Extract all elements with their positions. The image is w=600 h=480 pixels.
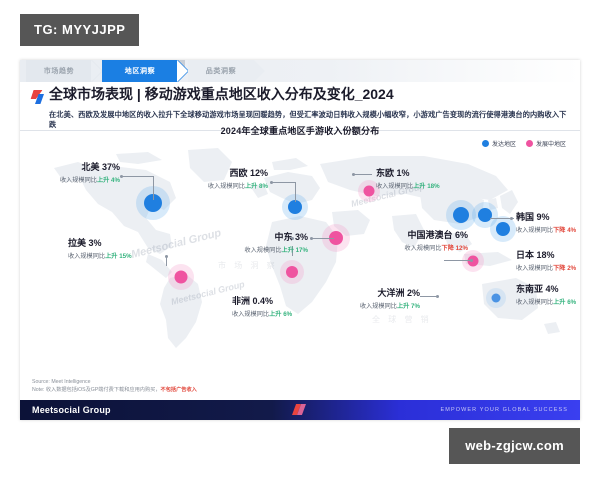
telegram-watermark-tag: TG: MYYJJPP (20, 14, 139, 46)
footnote-note-highlight: 不包括广告收入 (161, 387, 197, 393)
leader-dot (165, 255, 168, 258)
callout-change-prefix: 收入规模同比 (68, 253, 105, 260)
callout-change-value: 上升 15% (105, 253, 131, 260)
callout-southeast-asia: 东南亚 4% 收入规模同比上升 6% (516, 282, 576, 306)
callout-north-america: 北美 37% 收入规模同比上升 4% (26, 160, 120, 184)
callout-latin-america: 拉美 3% 收入规模同比上升 15% (68, 236, 132, 260)
callout-change-value: 下降 12% (442, 245, 468, 252)
callout-title: 西欧 12% (170, 166, 268, 179)
tab-label: 市场趋势 (44, 66, 74, 76)
callout-change: 收入规模同比下降 2% (516, 263, 576, 272)
callout-change-prefix: 收入规模同比 (516, 265, 553, 272)
callout-title: 东南亚 4% (516, 282, 576, 295)
leader-dot (510, 217, 513, 220)
page-title: 全球市场表现 | 移动游戏重点地区收入分布及变化_2024 (49, 86, 394, 102)
brand-diamond-icon (30, 89, 46, 105)
callout-change: 收入规模同比上升 7% (338, 301, 420, 310)
callout-change-prefix: 收入规模同比 (60, 177, 97, 184)
map-watermark-cjk: 市 场 洞 察 (218, 260, 278, 271)
bubble-southeast-asia[interactable] (462, 250, 484, 272)
leader-dot (352, 173, 355, 176)
callout-title: 北美 37% (26, 160, 120, 173)
leader-dot (436, 295, 439, 298)
chevron-right-icon (254, 60, 265, 82)
callout-change-prefix: 收入规模同比 (360, 303, 397, 310)
footnote-note: Note: 收入数据包括iOS及GP端付费下载和应用内购买，不包括广告收入 (32, 386, 197, 394)
bubble-latin-america[interactable] (168, 264, 194, 290)
callout-east-europe: 东欧 1% 收入规模同比上升 18% (376, 166, 440, 190)
bubble-japan[interactable] (490, 216, 516, 242)
callout-title: 中东 3% (210, 230, 308, 243)
callout-change: 收入规模同比上升 15% (68, 251, 132, 260)
tab-strip: 市场趋势 地区洞察 品类洞察 (20, 60, 580, 82)
callout-title: 大洋洲 2% (338, 286, 420, 299)
callout-change-prefix: 收入规模同比 (516, 299, 553, 306)
callout-change: 收入规模同比上升 6% (516, 297, 576, 306)
callout-change: 收入规模同比上升 6% (232, 309, 292, 318)
callout-change-prefix: 收入规模同比 (232, 311, 269, 318)
callout-greater-china: 中国港澳台 6% 收入规模同比下降 12% (350, 228, 468, 252)
leader-line (444, 260, 472, 261)
callout-change-prefix: 收入规模同比 (404, 245, 441, 252)
leader-line (272, 182, 296, 183)
leader-line (295, 182, 296, 202)
callout-oceania: 大洋洲 2% 收入规模同比上升 7% (338, 286, 420, 310)
callout-change: 收入规模同比上升 17% (210, 245, 308, 254)
bubble-oceania[interactable] (486, 288, 506, 308)
footnote: Source: Meet Intelligence Note: 收入数据包括iO… (32, 378, 197, 394)
tab-regional-insight[interactable]: 地区洞察 (102, 60, 178, 82)
slide-card: 市场趋势 地区洞察 品类洞察 全球市场表现 | 移动游戏重点地区收入分布及变化_… (20, 60, 580, 420)
callout-title: 拉美 3% (68, 236, 132, 249)
bubble-africa[interactable] (280, 260, 304, 284)
tab-category-insight[interactable]: 品类洞察 (188, 60, 254, 82)
leader-dot (470, 259, 473, 262)
leader-dot (310, 237, 313, 240)
callout-change-value: 上升 6% (269, 311, 292, 318)
leader-line (153, 176, 154, 200)
callout-change-value: 上升 4% (97, 177, 120, 184)
brand-tagline: EMPOWER YOUR GLOBAL SUCCESS (441, 407, 569, 413)
brand-name: Meetsocial Group (32, 405, 111, 415)
brand-diamond-icon (292, 403, 308, 417)
callout-change: 收入规模同比上升 4% (26, 175, 120, 184)
callout-west-europe: 西欧 12% 收入规模同比上升 8% (170, 166, 268, 190)
callout-change-value: 上升 8% (245, 183, 268, 190)
tab-label: 品类洞察 (206, 66, 236, 76)
tab-market-trends[interactable]: 市场趋势 (26, 60, 92, 82)
callout-change-value: 上升 18% (413, 183, 439, 190)
leader-line (122, 176, 154, 177)
callout-change: 收入规模同比下降 4% (516, 225, 576, 234)
callout-change-value: 上升 7% (397, 303, 420, 310)
callout-change-prefix: 收入规模同比 (376, 183, 413, 190)
callout-change-prefix: 收入规模同比 (244, 247, 281, 254)
site-watermark-tag: web-zgjcw.com (449, 428, 580, 464)
callout-korea: 韩国 9% 收入规模同比下降 4% (516, 210, 576, 234)
map-watermark-cjk: 全 球 营 销 (372, 314, 432, 325)
callout-title: 东欧 1% (376, 166, 440, 179)
callout-title: 非洲 0.4% (232, 294, 292, 307)
callout-change-value: 下降 2% (553, 265, 576, 272)
callout-change-prefix: 收入规模同比 (208, 183, 245, 190)
tab-label: 地区洞察 (125, 66, 155, 76)
callout-change: 收入规模同比上升 18% (376, 181, 440, 190)
callout-africa: 非洲 0.4% 收入规模同比上升 6% (232, 294, 292, 318)
footnote-note-plain: Note: 收入数据包括iOS及GP端付费下载和应用内购买， (32, 387, 161, 393)
callout-title: 中国港澳台 6% (350, 228, 468, 241)
callout-change-prefix: 收入规模同比 (516, 227, 553, 234)
footnote-source: Source: Meet Intelligence (32, 378, 197, 386)
chart-title: 2024年全球重点地区手游收入份额分布 (20, 122, 580, 137)
leader-line (312, 238, 334, 239)
leader-line (354, 174, 372, 175)
callout-change-value: 下降 4% (553, 227, 576, 234)
brand-footer-bar: Meetsocial Group EMPOWER YOUR GLOBAL SUC… (20, 400, 580, 420)
callout-change-value: 上升 17% (282, 247, 308, 254)
leader-dot (270, 181, 273, 184)
callout-change: 收入规模同比下降 12% (350, 243, 468, 252)
callout-japan: 日本 18% 收入规模同比下降 2% (516, 248, 576, 272)
callout-change: 收入规模同比上升 8% (170, 181, 268, 190)
callout-middle-east: 中东 3% 收入规模同比上升 17% (210, 230, 308, 254)
callout-change-value: 上升 6% (553, 299, 576, 306)
callout-title: 日本 18% (516, 248, 576, 261)
leader-dot (120, 175, 123, 178)
chart-area: 2024年全球重点地区手游收入份额分布 发达地区 发展中地区 (20, 122, 580, 362)
world-map: Meetsocial Group Meetsocial Group Meetso… (20, 138, 580, 362)
callout-title: 韩国 9% (516, 210, 576, 223)
